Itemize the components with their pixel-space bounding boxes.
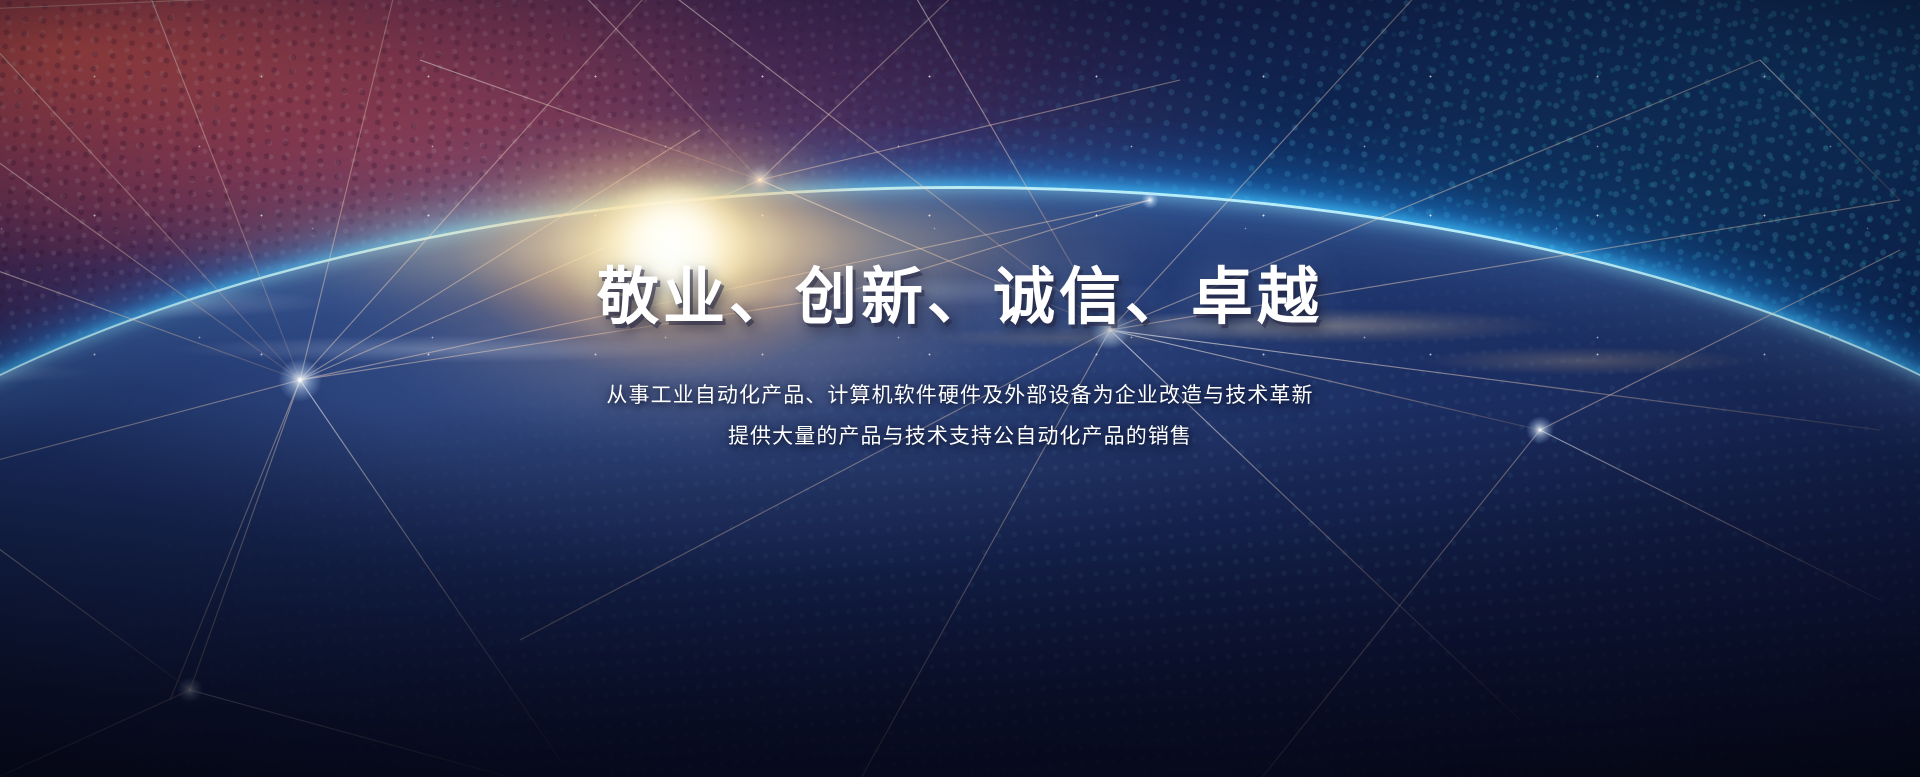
hero-subtitle-line-2: 提供大量的产品与技术支持公自动化产品的销售 xyxy=(0,416,1920,457)
hero-banner: 敬业、创新、诚信、卓越 从事工业自动化产品、计算机软件硬件及外部设备为企业改造与… xyxy=(0,0,1920,777)
hero-copy: 敬业、创新、诚信、卓越 从事工业自动化产品、计算机软件硬件及外部设备为企业改造与… xyxy=(0,264,1920,457)
hero-subtitle-line-1: 从事工业自动化产品、计算机软件硬件及外部设备为企业改造与技术革新 xyxy=(0,375,1920,416)
hero-headline: 敬业、创新、诚信、卓越 xyxy=(0,264,1920,331)
